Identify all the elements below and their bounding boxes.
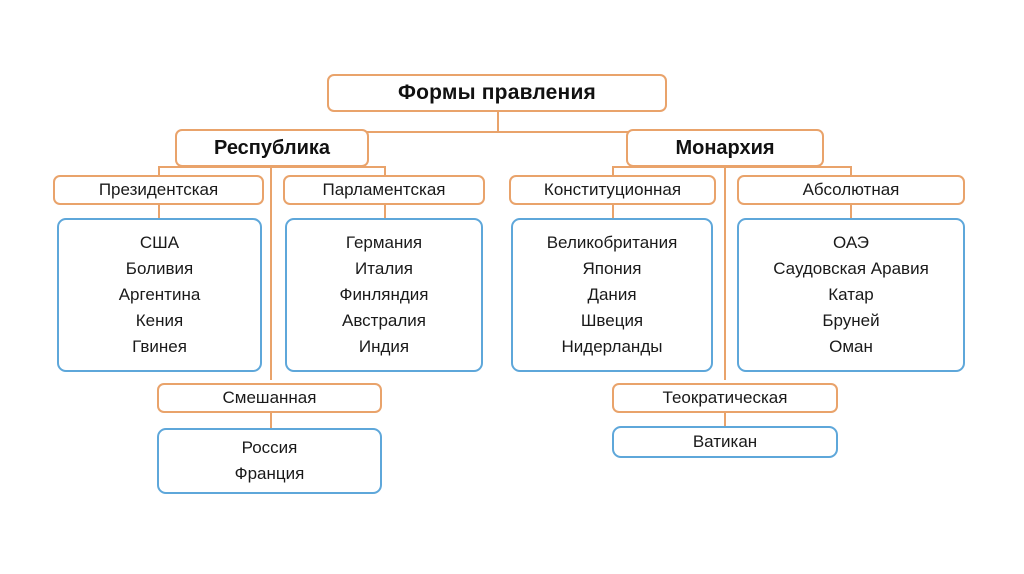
node-branch-monarchy[interactable]: Монархия	[626, 129, 824, 167]
list-item: Германия	[346, 230, 422, 256]
list-item: Финляндия	[340, 282, 429, 308]
list-item: Россия	[242, 435, 298, 461]
connector-monarchy-to-theocratic	[724, 166, 726, 380]
list-item: Кения	[136, 308, 183, 334]
node-list-theocratic-countries: Ватикан	[612, 426, 838, 458]
connector-republic-to-mixed	[270, 166, 272, 380]
node-type-constitutional[interactable]: Конституционная	[509, 175, 716, 205]
node-type-absolute[interactable]: Абсолютная	[737, 175, 965, 205]
diagram-canvas: Формы правления Республика Монархия През…	[0, 0, 1024, 574]
connector-root-stem	[497, 110, 499, 132]
list-item: Ватикан	[693, 429, 757, 455]
list-item: Япония	[582, 256, 641, 282]
node-branch-republic[interactable]: Республика	[175, 129, 369, 167]
list-item: Оман	[829, 334, 873, 360]
node-list-constitutional-countries: Великобритания Япония Дания Швеция Нидер…	[511, 218, 713, 372]
list-item: Нидерланды	[562, 334, 663, 360]
node-list-mixed-countries: Россия Франция	[157, 428, 382, 494]
list-item: Бруней	[822, 308, 879, 334]
node-type-theocratic[interactable]: Теократическая	[612, 383, 838, 413]
list-item: Великобритания	[547, 230, 678, 256]
list-item: Швеция	[581, 308, 643, 334]
list-item: Аргентина	[119, 282, 201, 308]
connector-absolute-to-list	[850, 203, 852, 219]
list-item: ОАЭ	[833, 230, 869, 256]
node-list-parliamentary-countries: Германия Италия Финляндия Австралия Инди…	[285, 218, 483, 372]
connector-parliamentary-to-list	[384, 203, 386, 219]
list-item: Катар	[828, 282, 874, 308]
list-item: Дания	[587, 282, 636, 308]
node-type-parliamentary[interactable]: Парламентская	[283, 175, 485, 205]
list-item: Италия	[355, 256, 413, 282]
list-item: Франция	[235, 461, 305, 487]
connector-constitutional-to-list	[612, 203, 614, 219]
list-item: Индия	[359, 334, 409, 360]
list-item: Саудовская Аравия	[773, 256, 929, 282]
list-item: США	[140, 230, 179, 256]
node-list-presidential-countries: США Боливия Аргентина Кения Гвинея	[57, 218, 262, 372]
list-item: Боливия	[126, 256, 193, 282]
node-type-presidential[interactable]: Президентская	[53, 175, 264, 205]
node-type-mixed[interactable]: Смешанная	[157, 383, 382, 413]
connector-presidential-to-list	[158, 203, 160, 219]
list-item: Гвинея	[132, 334, 187, 360]
connector-mixed-to-list	[270, 413, 272, 429]
node-root-forms-of-government[interactable]: Формы правления	[327, 74, 667, 112]
list-item: Австралия	[342, 308, 426, 334]
node-list-absolute-countries: ОАЭ Саудовская Аравия Катар Бруней Оман	[737, 218, 965, 372]
